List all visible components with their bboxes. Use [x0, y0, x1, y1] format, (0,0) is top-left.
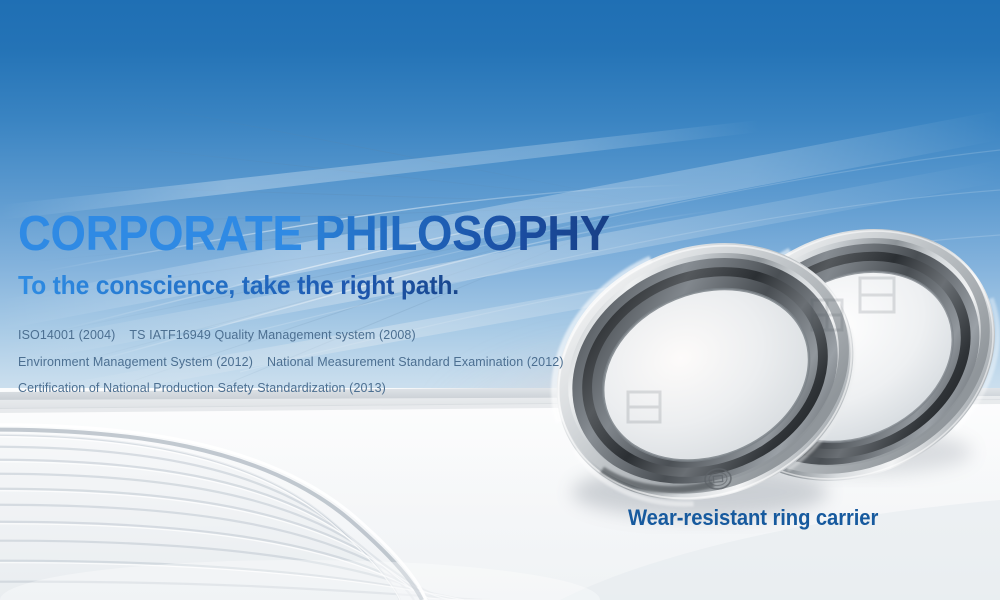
certification-item: TS IATF16949 Quality Management system (…: [129, 328, 415, 342]
certification-line: Certification of National Production Saf…: [18, 375, 638, 402]
certification-line: Environment Management System (2012)Nati…: [18, 349, 638, 376]
certification-item: ISO14001 (2004): [18, 328, 115, 342]
certification-list: ISO14001 (2004)TS IATF16949 Quality Mana…: [18, 322, 638, 402]
certification-line: ISO14001 (2004)TS IATF16949 Quality Mana…: [18, 322, 638, 349]
certification-item: Certification of National Production Saf…: [18, 381, 386, 395]
product-caption: Wear-resistant ring carrier: [628, 505, 878, 531]
headline-word-corporate: CORPORATE: [18, 207, 302, 261]
page-title: CORPORATE PHILOSOPHY: [18, 206, 595, 262]
certification-item: Environment Management System (2012): [18, 355, 253, 369]
subheadline: To the conscience, take the right path.: [18, 268, 607, 302]
headline-copy-block: CORPORATE PHILOSOPHY To the conscience, …: [18, 206, 638, 402]
corporate-philosophy-banner: CORPORATE PHILOSOPHY To the conscience, …: [0, 0, 1000, 600]
certification-item: National Measurement Standard Examinatio…: [267, 355, 564, 369]
headline-word-philosophy: PHILOSOPHY: [315, 207, 610, 261]
